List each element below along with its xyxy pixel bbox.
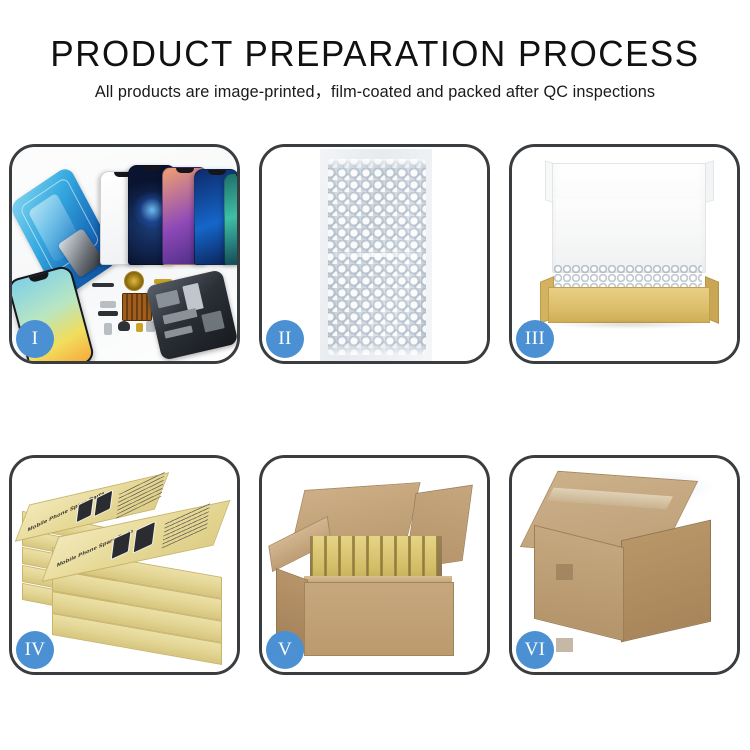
process-step-panel-1: I	[9, 144, 240, 364]
carton-front-panel	[304, 582, 454, 656]
page-title: PRODUCT PREPARATION PROCESS	[11, 34, 739, 74]
step-badge-4: IV	[16, 631, 54, 669]
step-badge-5: V	[266, 631, 304, 669]
step-badge-2: II	[266, 320, 304, 358]
page-subtitle: All products are image-printed，film-coat…	[6, 81, 745, 103]
phone-motherboard-graphic	[145, 269, 237, 361]
process-step-panel-2: II	[259, 144, 490, 364]
pouch-seam	[328, 253, 426, 257]
box-shadow	[552, 320, 704, 329]
step-badge-6: VI	[516, 631, 554, 669]
phone-fan-graphic	[98, 155, 237, 265]
carton-seam-top	[556, 564, 573, 580]
box-foam-liner	[556, 199, 700, 271]
pouch-top-seal	[328, 159, 426, 168]
box-stack-graphic: Mobile Phone Spare Parts Mobile Phone Sp…	[20, 476, 232, 666]
carton-right-panel	[621, 520, 711, 643]
phone-graphic	[224, 173, 237, 265]
process-step-panel-6: VI	[509, 455, 740, 675]
box-front-panel	[548, 287, 710, 323]
step-badge-1: I	[16, 320, 54, 358]
pouch-bottom-seal	[328, 344, 426, 355]
page-header: PRODUCT PREPARATION PROCESS All products…	[0, 0, 750, 103]
step-badge-3: III	[516, 320, 554, 358]
process-step-panel-5: V	[259, 455, 490, 675]
process-step-panel-3: III	[509, 144, 740, 364]
bubble-pouch-graphic	[328, 159, 426, 355]
process-step-panel-4: Mobile Phone Spare Parts Mobile Phone Sp…	[9, 455, 240, 675]
carton-seam-bottom	[556, 638, 573, 652]
process-step-grid: I II III	[0, 144, 750, 684]
